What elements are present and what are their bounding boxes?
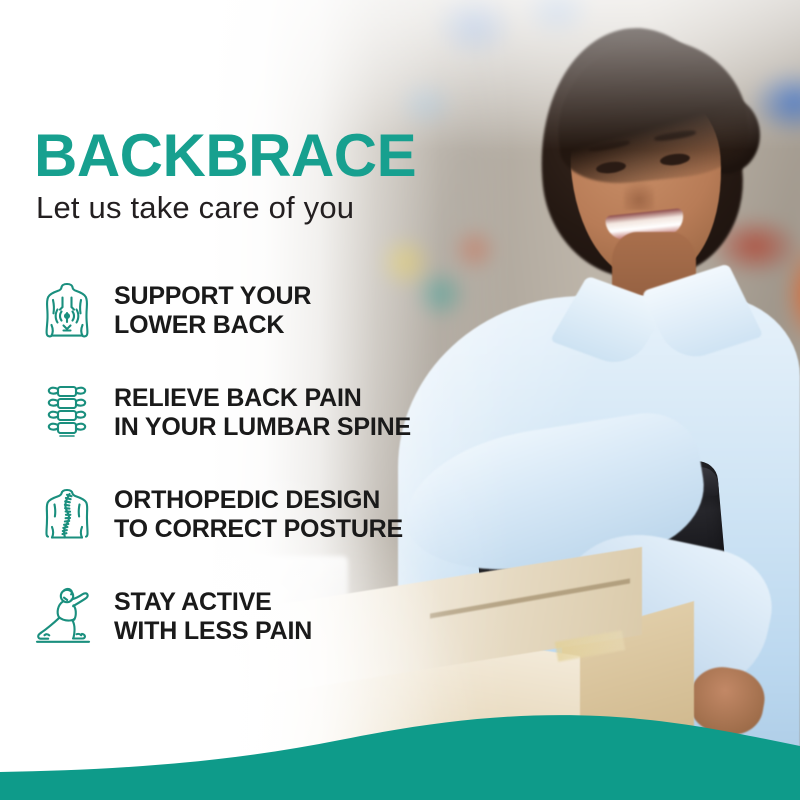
list-item-label: RELIEVE BACK PAIN IN YOUR LUMBAR SPINE (114, 384, 411, 442)
back-torso-pain-icon (30, 274, 104, 348)
stretching-person-icon (30, 580, 104, 654)
list-item: STAY ACTIVE WITH LESS PAIN (30, 578, 460, 656)
tagline: Let us take care of you (36, 190, 354, 226)
poster-content: BACKBRACE Let us take care of you (0, 0, 800, 800)
list-item: ORTHOPEDIC DESIGN TO CORRECT POSTURE (30, 476, 460, 554)
lumbar-vertebrae-icon (30, 376, 104, 450)
spine-posture-icon (30, 478, 104, 552)
list-item-label: STAY ACTIVE WITH LESS PAIN (114, 588, 312, 646)
feature-list: SUPPORT YOUR LOWER BACK (30, 272, 460, 680)
list-item: SUPPORT YOUR LOWER BACK (30, 272, 460, 350)
product-poster: BACKBRACE Let us take care of you (0, 0, 800, 800)
page-title: BACKBRACE (34, 126, 416, 186)
list-item-label: ORTHOPEDIC DESIGN TO CORRECT POSTURE (114, 486, 403, 544)
list-item-label: SUPPORT YOUR LOWER BACK (114, 282, 311, 340)
list-item: RELIEVE BACK PAIN IN YOUR LUMBAR SPINE (30, 374, 460, 452)
